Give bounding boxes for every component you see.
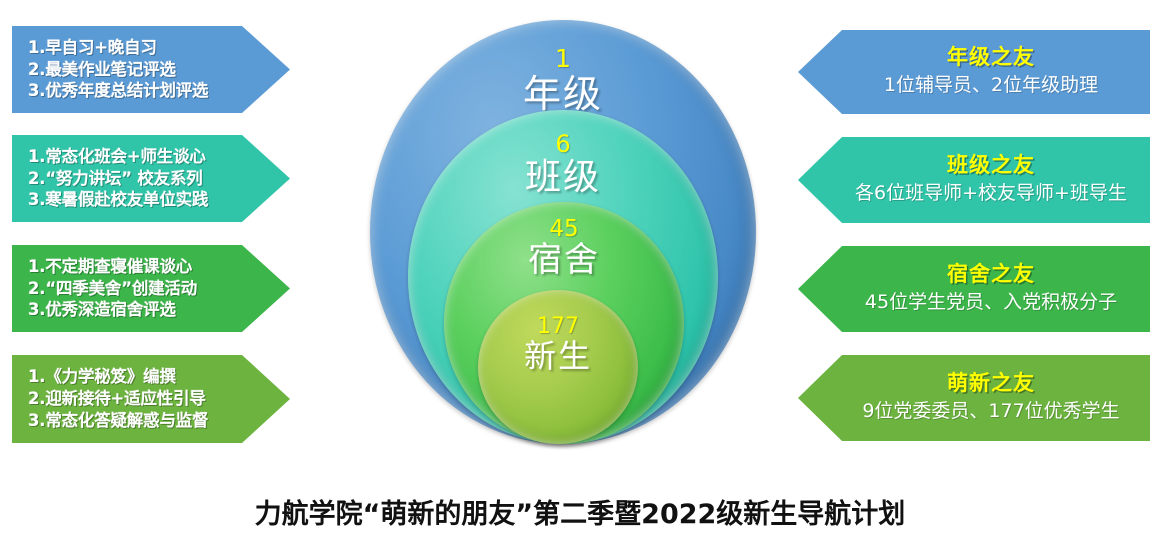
circle-class-count: 6 xyxy=(555,132,570,156)
circle-grade-count: 1 xyxy=(555,46,571,71)
right-banner-class-friend[interactable]: 班级之友 各6位班导师+校友导师+班导生 xyxy=(798,137,1150,223)
right-banner-grade-friend-title: 年级之友 xyxy=(947,44,1035,70)
right-banner-dorm-friend[interactable]: 宿舍之友 45位学生党员、入党积极分子 xyxy=(798,246,1150,332)
left-banner-class-line-3: 3.寒暑假赴校友单位实践 xyxy=(28,189,208,211)
right-banner-grade-friend-subtitle: 1位辅导员、2位年级助理 xyxy=(884,73,1098,98)
right-banner-freshman-friend-subtitle: 9位党委委员、177位优秀学生 xyxy=(862,399,1119,424)
left-banner-class-line-2: 2.“努力讲坛” 校友系列 xyxy=(28,168,208,190)
left-banner-dorm-line-2: 2.“四季美舍”创建活动 xyxy=(28,278,197,300)
left-banner-grade-line-1: 1.早自习+晚自习 xyxy=(28,37,208,59)
left-banner-freshman[interactable]: 1.《力学秘笈》编撰 2.迎新接待+适应性引导 3.常态化答疑解惑与监督 xyxy=(12,355,290,443)
circle-dorm-label: 宿舍 xyxy=(528,243,600,279)
right-banner-dorm-friend-title: 宿舍之友 xyxy=(947,261,1035,287)
left-banner-dorm-line-1: 1.不定期查寝催课谈心 xyxy=(28,256,197,278)
right-banner-freshman-friend[interactable]: 萌新之友 9位党委委员、177位优秀学生 xyxy=(798,355,1150,441)
left-banner-freshman-lines: 1.《力学秘笈》编撰 2.迎新接待+适应性引导 3.常态化答疑解惑与监督 xyxy=(28,366,208,431)
right-banner-dorm-friend-subtitle: 45位学生党员、入党积极分子 xyxy=(865,290,1117,315)
circle-grade-label: 年级 xyxy=(523,75,603,115)
right-banner-class-friend-title: 班级之友 xyxy=(947,152,1035,178)
left-banner-grade-line-2: 2.最美作业笔记评选 xyxy=(28,59,208,81)
circle-freshman[interactable]: 177 新生 xyxy=(478,290,638,444)
circle-class-label: 班级 xyxy=(525,159,601,197)
left-banner-freshman-line-1: 1.《力学秘笈》编撰 xyxy=(28,366,208,388)
circle-freshman-count: 177 xyxy=(537,316,579,338)
nested-circles-diagram: 1 年级 6 班级 45 宿舍 177 新生 xyxy=(352,14,772,464)
right-banner-class-friend-subtitle: 各6位班导师+校友导师+班导生 xyxy=(855,181,1127,206)
left-banner-dorm-lines: 1.不定期查寝催课谈心 2.“四季美舍”创建活动 3.优秀深造宿舍评选 xyxy=(28,256,197,321)
left-banner-freshman-line-3: 3.常态化答疑解惑与监督 xyxy=(28,410,208,432)
left-banner-grade[interactable]: 1.早自习+晚自习 2.最美作业笔记评选 3.优秀年度总结计划评选 xyxy=(12,26,290,113)
left-banner-grade-lines: 1.早自习+晚自习 2.最美作业笔记评选 3.优秀年度总结计划评选 xyxy=(28,37,208,102)
circle-dorm-count: 45 xyxy=(549,218,578,241)
circle-freshman-label: 新生 xyxy=(524,340,592,374)
right-banner-freshman-friend-title: 萌新之友 xyxy=(947,370,1035,396)
right-banner-grade-friend[interactable]: 年级之友 1位辅导员、2位年级助理 xyxy=(798,30,1150,114)
page-title: 力航学院“萌新的朋友”第二季暨2022级新生导航计划 xyxy=(0,492,1160,531)
left-banner-freshman-line-2: 2.迎新接待+适应性引导 xyxy=(28,388,208,410)
left-banner-dorm[interactable]: 1.不定期查寝催课谈心 2.“四季美舍”创建活动 3.优秀深造宿舍评选 xyxy=(12,245,290,332)
left-banner-dorm-line-3: 3.优秀深造宿舍评选 xyxy=(28,299,197,321)
left-banner-class[interactable]: 1.常态化班会+师生谈心 2.“努力讲坛” 校友系列 3.寒暑假赴校友单位实践 xyxy=(12,135,290,222)
left-banner-class-line-1: 1.常态化班会+师生谈心 xyxy=(28,146,208,168)
left-banner-grade-line-3: 3.优秀年度总结计划评选 xyxy=(28,80,208,102)
left-banner-class-lines: 1.常态化班会+师生谈心 2.“努力讲坛” 校友系列 3.寒暑假赴校友单位实践 xyxy=(28,146,208,211)
